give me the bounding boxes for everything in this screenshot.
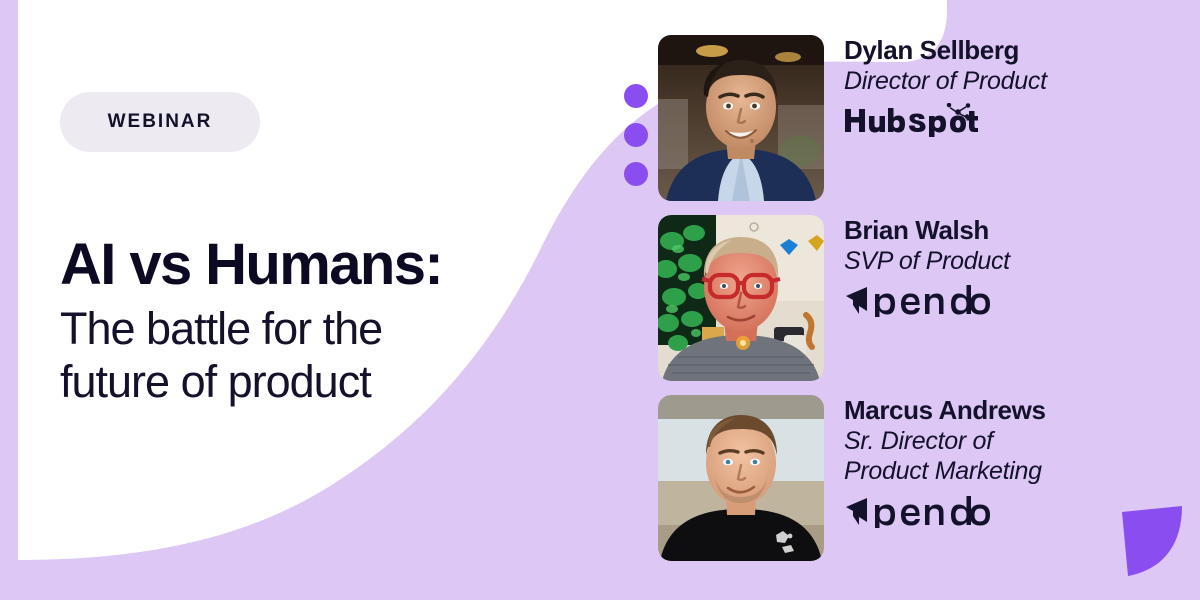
webinar-badge-label: WEBINAR (108, 111, 213, 133)
decorative-dots-group (624, 84, 648, 186)
headline-line-2: The battle for the (60, 303, 630, 356)
speaker-info: Dylan Sellberg Director of Product (844, 35, 1174, 137)
headline-line-1: AI vs Humans: (60, 235, 630, 294)
speaker-title-line-1: SVP of Product (844, 247, 1010, 275)
webinar-promo-canvas: WEBINAR AI vs Humans: The battle for the… (0, 0, 1200, 600)
dot-icon (624, 123, 648, 147)
speaker-name: Dylan Sellberg (844, 35, 1174, 66)
webinar-badge: WEBINAR (60, 92, 260, 152)
speaker-photo-marcus (658, 395, 824, 561)
dot-icon (624, 84, 648, 108)
speaker-title: SVP of Product (844, 246, 1174, 277)
speaker-info: Marcus Andrews Sr. Director of Product M… (844, 395, 1174, 528)
speaker-info: Brian Walsh SVP of Product (844, 215, 1174, 317)
speaker-title-line-2: Product Marketing (844, 456, 1174, 487)
speaker-name: Marcus Andrews (844, 395, 1174, 426)
left-content-column: WEBINAR AI vs Humans: The battle for the… (60, 0, 620, 600)
avatar (658, 395, 824, 561)
headline-line-3: future of product (60, 356, 630, 409)
hubspot-logo-svg (844, 103, 978, 137)
speaker-name: Brian Walsh (844, 215, 1174, 246)
dot-icon (624, 162, 648, 186)
hubspot-logo (844, 103, 1174, 137)
speaker-photo-dylan (658, 35, 824, 201)
speaker-photo-brian (658, 215, 824, 381)
pendo-logo (844, 494, 1174, 528)
pendo-logo (844, 283, 1174, 317)
speaker-title-line-1: Sr. Director of (844, 427, 993, 455)
speaker-title: Sr. Director of Product Marketing (844, 426, 1174, 487)
avatar (658, 215, 824, 381)
pendo-logo-svg (844, 283, 990, 317)
page-title: AI vs Humans: The battle for the future … (60, 235, 630, 408)
speaker-title-line-1: Director of Product (844, 67, 1047, 95)
avatar (658, 35, 824, 201)
speaker-title: Director of Product (844, 66, 1174, 97)
pendo-logo-svg (844, 494, 990, 528)
